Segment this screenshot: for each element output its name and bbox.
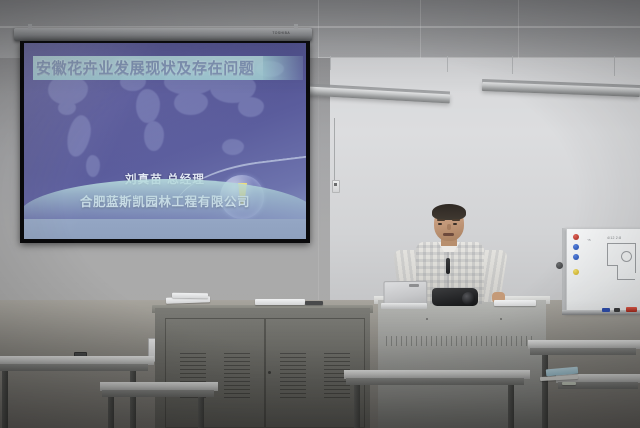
whiteboard-magnet-blue-2[interactable] xyxy=(573,254,579,260)
tray-marker-black[interactable] xyxy=(614,308,620,312)
whiteboard-diagram-line-6 xyxy=(617,279,635,280)
whiteboard-diagram-line-3 xyxy=(635,243,636,273)
cabinet-papers-3[interactable] xyxy=(255,299,305,305)
whiteboard-mount-knob xyxy=(556,262,563,269)
slide-canvas: 安徽花卉业发展现状及存在问题 刘真苗 总经理 合肥蓝斯凯园林工程有限公司 xyxy=(24,43,306,239)
ceiling-vseam-3 xyxy=(518,0,519,58)
presenter-brow-left xyxy=(437,219,445,221)
side-desk-small-item[interactable] xyxy=(562,382,576,385)
presenter-nose xyxy=(447,224,451,230)
whiteboard-marker-tray[interactable] xyxy=(562,310,640,315)
whiteboard-magnet-yellow[interactable] xyxy=(573,269,579,275)
whiteboard-scribble: ⌁ xyxy=(587,235,603,247)
whiteboard-diagram-line-2 xyxy=(607,243,608,265)
whiteboard-note-text: 4/12 2:8 xyxy=(607,236,621,240)
whiteboard-diagram-line-4 xyxy=(607,265,617,266)
cabinet-papers-2[interactable] xyxy=(172,293,208,299)
ceiling-vseam-2 xyxy=(420,0,421,58)
screen-brand-label: TOSHIBA xyxy=(272,31,290,35)
wall-switch[interactable] xyxy=(332,180,340,193)
slide-bottom-band xyxy=(24,219,306,239)
whiteboard-magnet-blue-1[interactable] xyxy=(573,244,579,250)
presenter-eye-right xyxy=(453,223,457,225)
podium-papers[interactable] xyxy=(494,300,536,306)
tray-marker-blue[interactable] xyxy=(602,308,610,312)
projector-screen-housing[interactable]: TOSHIBA xyxy=(14,28,312,41)
desk-front-right xyxy=(344,370,530,428)
laptop-base[interactable] xyxy=(381,303,427,309)
whiteboard-magnet-red[interactable] xyxy=(573,234,579,240)
presenter-eye-left xyxy=(438,223,442,225)
camera-lens xyxy=(462,292,475,305)
cabinet-lock[interactable] xyxy=(268,371,271,374)
presenter-mouth xyxy=(443,233,454,236)
presenter-brow-right xyxy=(452,219,460,221)
presenter-microphone xyxy=(446,258,450,274)
podium-vents xyxy=(386,336,536,346)
desk-front-center xyxy=(100,382,218,428)
whiteboard-diagram-line-1 xyxy=(607,243,635,244)
whiteboard[interactable]: ⌁ 4/12 2:8 xyxy=(566,228,640,314)
whiteboard-diagram-line-5 xyxy=(617,265,618,279)
slide-title: 安徽花卉业发展现状及存在问题 xyxy=(36,58,284,79)
cabinet-small-object[interactable] xyxy=(305,301,323,305)
projection-screen: 安徽花卉业发展现状及存在问题 刘真苗 总经理 合肥蓝斯凯园林工程有限公司 xyxy=(20,41,310,243)
ceiling-vseam-1 xyxy=(318,0,319,58)
tray-eraser[interactable] xyxy=(626,307,637,312)
whiteboard-diagram-circle xyxy=(621,251,632,262)
lecture-room-scene: TOSHIBA 安徽花卉业发展现状及存在问题 xyxy=(0,0,640,428)
wall-switch-button[interactable] xyxy=(334,183,337,186)
wall-device-cord xyxy=(334,118,335,180)
presenter-hair xyxy=(432,204,466,220)
laptop-hinge xyxy=(409,284,419,287)
